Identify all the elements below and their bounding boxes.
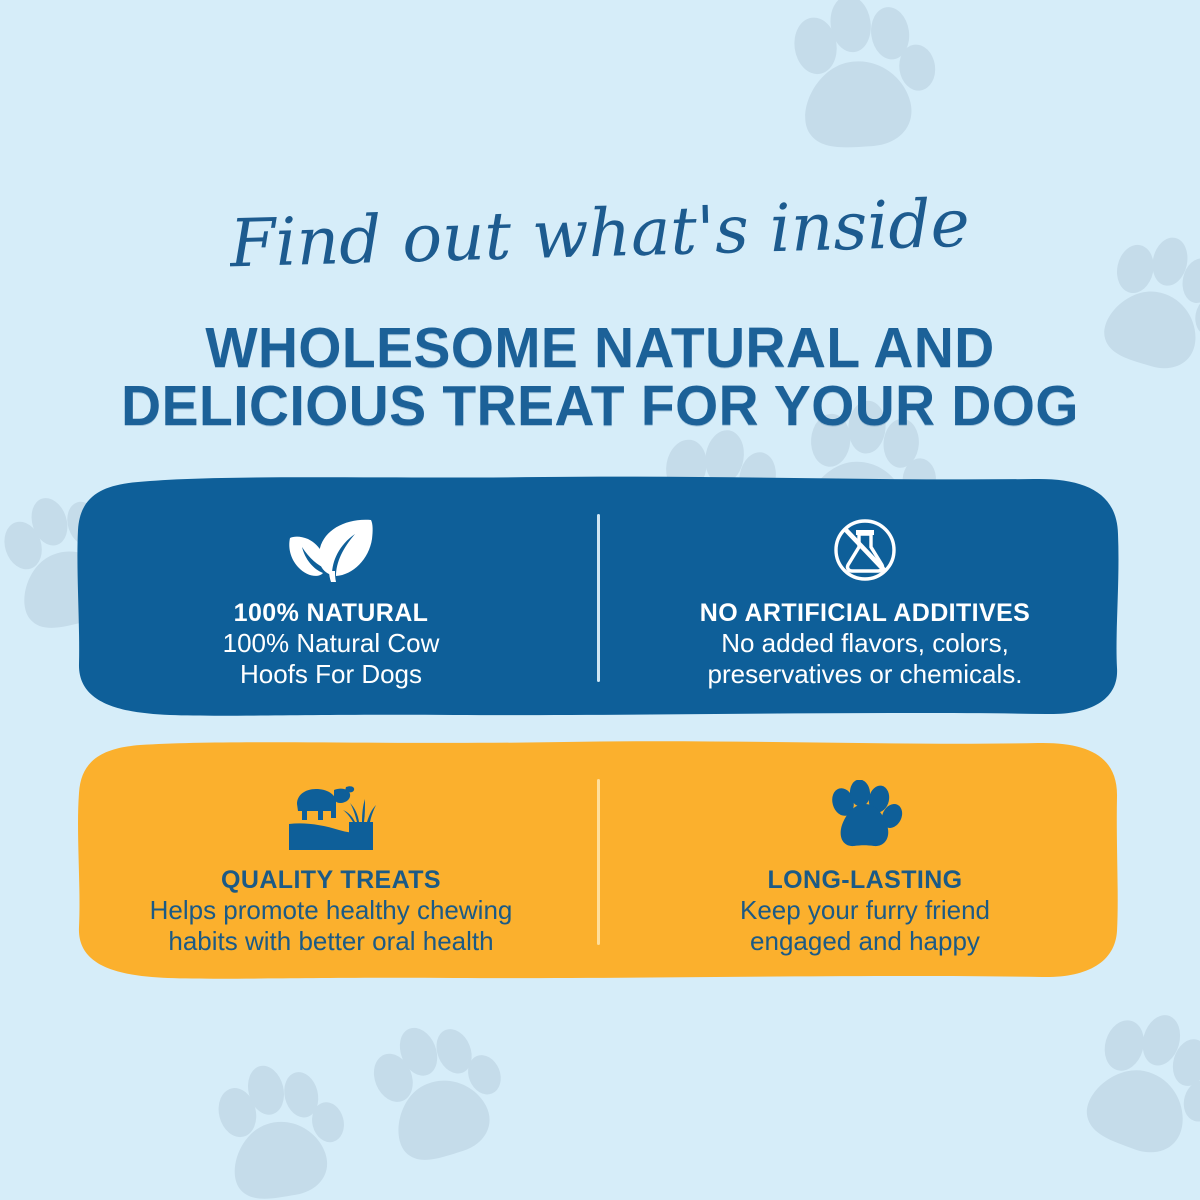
feature-desc-line: engaged and happy [740, 926, 990, 957]
feature-title: QUALITY TREATS [221, 865, 441, 895]
headline-line-1: WHOLESOME NATURAL AND [18, 319, 1182, 377]
feature-long-lasting: LONG-LASTING Keep your furry friend enga… [598, 769, 1122, 985]
feature-100-natural: 100% NATURAL 100% Natural Cow Hoofs For … [74, 502, 598, 722]
no-chemicals-icon [827, 502, 903, 598]
feature-panel-quality: QUALITY TREATS Helps promote healthy che… [74, 737, 1122, 985]
feature-no-additives: NO ARTIFICIAL ADDITIVES No added flavors… [598, 502, 1122, 722]
headline-line-2: DELICIOUS TREAT FOR YOUR DOG [18, 377, 1182, 435]
feature-desc-line: Keep your furry friend [740, 895, 990, 926]
feature-title: 100% NATURAL [234, 598, 429, 628]
panel-blue-content: 100% NATURAL 100% Natural Cow Hoofs For … [74, 472, 1122, 722]
paw-icon [361, 1003, 522, 1172]
feature-description: Keep your furry friend engaged and happy [740, 895, 990, 957]
sheep-pasture-icon [283, 769, 379, 865]
script-subtitle-text: Find out what's inside [230, 186, 970, 282]
paw-print-icon [825, 769, 905, 865]
paw-icon [210, 1050, 358, 1200]
page-title: WHOLESOME NATURAL AND DELICIOUS TREAT FO… [18, 319, 1182, 435]
feature-desc-line: 100% Natural Cow [223, 628, 440, 659]
paw-icon [788, 0, 944, 155]
leaves-icon [285, 502, 377, 598]
feature-desc-line: preservatives or chemicals. [708, 659, 1023, 690]
paw-icon [1079, 1001, 1200, 1168]
feature-panel-natural: 100% NATURAL 100% Natural Cow Hoofs For … [74, 472, 1122, 722]
feature-title: LONG-LASTING [767, 865, 962, 895]
feature-description: Helps promote healthy chewing habits wit… [150, 895, 513, 957]
script-subtitle: Find out what's inside [0, 186, 1200, 282]
feature-desc-line: habits with better oral health [150, 926, 513, 957]
feature-desc-line: Hoofs For Dogs [223, 659, 440, 690]
feature-description: No added flavors, colors, preservatives … [708, 628, 1023, 690]
feature-quality-treats: QUALITY TREATS Helps promote healthy che… [74, 769, 598, 985]
panel-orange-content: QUALITY TREATS Helps promote healthy che… [74, 737, 1122, 985]
feature-title: NO ARTIFICIAL ADDITIVES [700, 598, 1031, 628]
feature-desc-line: Helps promote healthy chewing [150, 895, 513, 926]
feature-desc-line: No added flavors, colors, [708, 628, 1023, 659]
infographic-canvas: Find out what's inside WHOLESOME NATURAL… [0, 0, 1200, 1200]
feature-description: 100% Natural Cow Hoofs For Dogs [223, 628, 440, 690]
